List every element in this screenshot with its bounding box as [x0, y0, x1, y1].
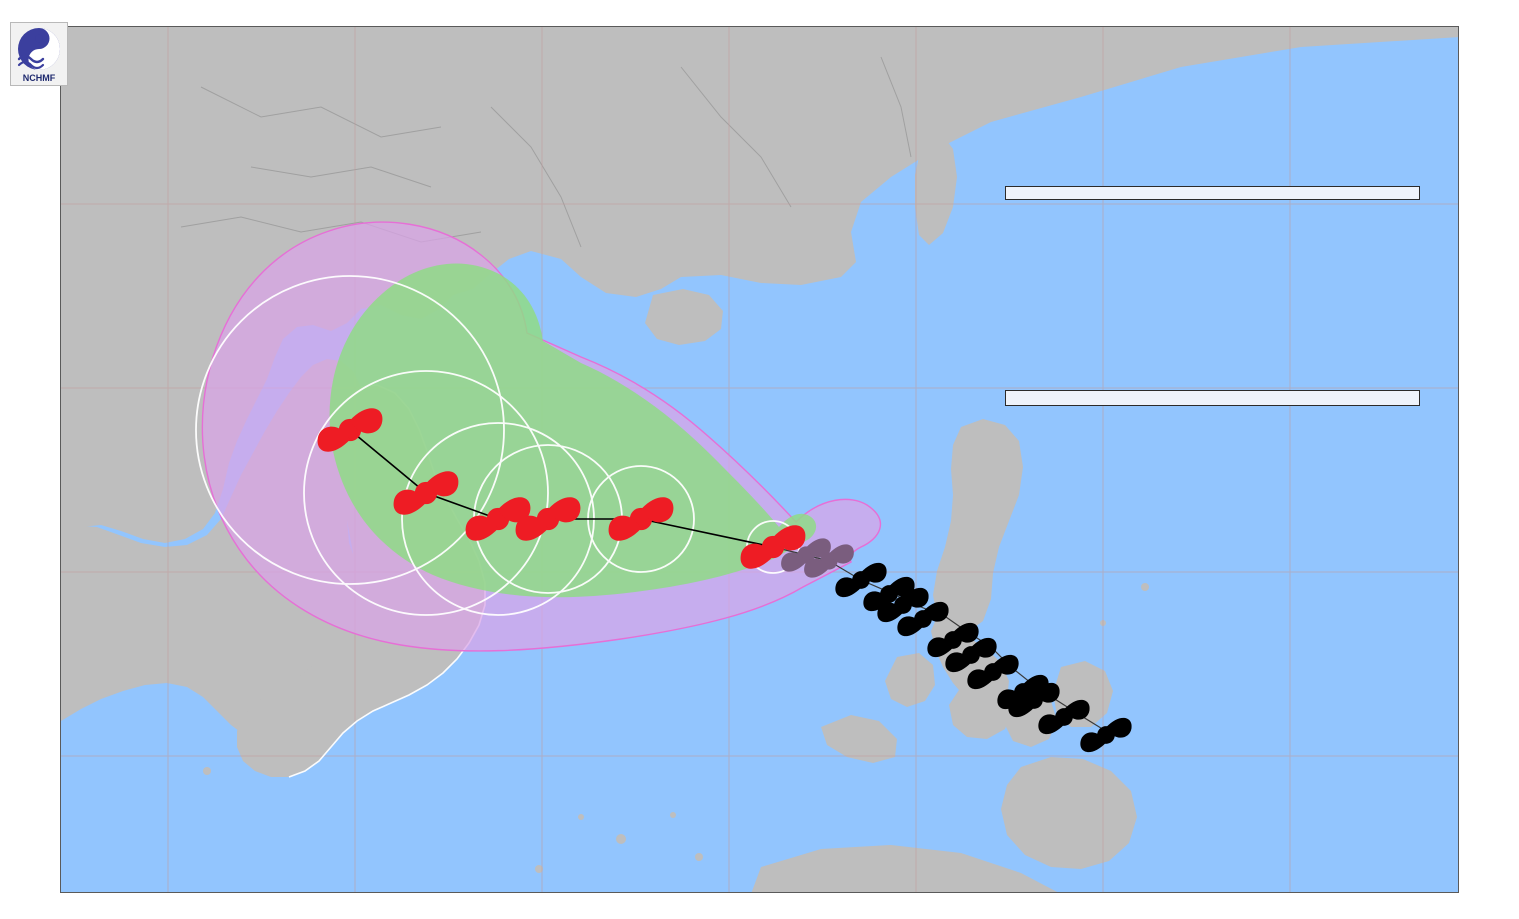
- col-datetime: [1006, 198, 1075, 199]
- col-vmax: [1281, 198, 1350, 199]
- nchmf-abbr-text: NCHMF: [23, 73, 56, 83]
- col-pmin: [1350, 198, 1419, 199]
- col-latitude: [1075, 198, 1144, 199]
- longitude-axis-bottom: [0, 893, 1519, 919]
- legend-panel: [1005, 390, 1420, 406]
- nchmf-branding: NCHMF: [10, 22, 78, 86]
- longitude-axis-top: [0, 0, 1519, 26]
- map-canvas[interactable]: [60, 26, 1459, 893]
- latitude-axis-right: [1459, 0, 1519, 919]
- forecast-table: [1006, 198, 1419, 199]
- nchmf-logo-icon: NCHMF: [10, 22, 68, 86]
- col-windlevel: [1212, 198, 1281, 199]
- latitude-axis-left: [0, 0, 60, 919]
- typhoon-forecast-map-page: NCHMF: [0, 0, 1519, 919]
- legend-title: [1006, 395, 1419, 398]
- panel-title: [1006, 187, 1419, 194]
- col-longitude: [1144, 198, 1213, 199]
- forecast-table-header-row: [1006, 198, 1419, 199]
- forecast-info-panel: [1005, 186, 1420, 200]
- inner-axis-labels: [61, 27, 1459, 893]
